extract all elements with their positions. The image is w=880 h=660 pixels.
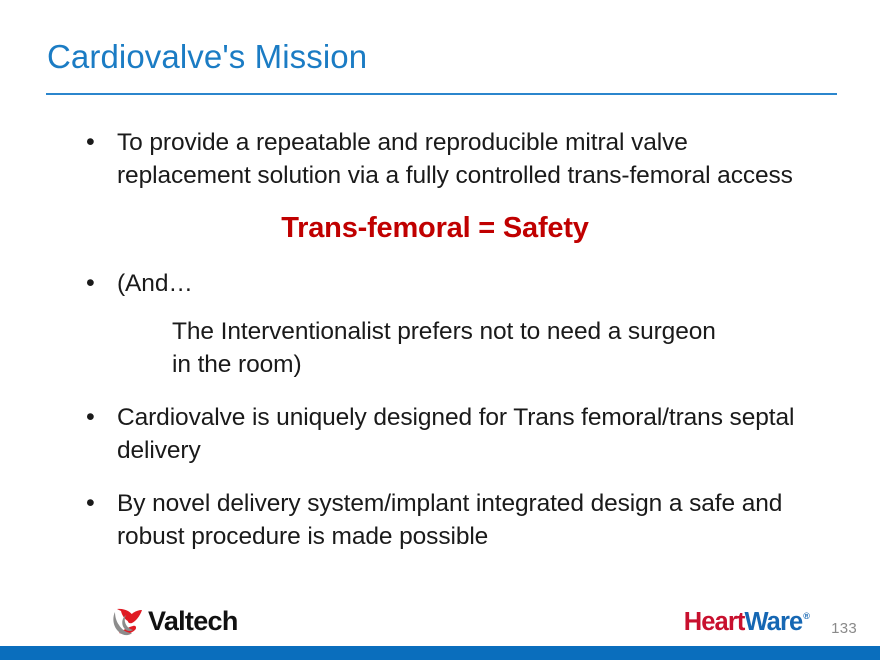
title-underline-rule: [46, 93, 837, 95]
footer-accent-bar: [0, 646, 880, 660]
list-item: • By novel delivery system/implant integ…: [0, 487, 880, 553]
list-item-text: To provide a repeatable and reproducible…: [117, 129, 793, 189]
registered-trademark-icon: ®: [803, 611, 809, 621]
heartware-wordmark-heart: Heart: [684, 608, 745, 637]
bullet-marker-icon: •: [86, 487, 95, 520]
list-item-text: Cardiovalve is uniquely designed for Tra…: [117, 404, 794, 464]
bullet-marker-icon: •: [86, 126, 95, 159]
bullet-marker-icon: •: [86, 267, 95, 300]
bullet-marker-icon: •: [86, 401, 95, 434]
list-item: • Cardiovalve is uniquely designed for T…: [0, 401, 880, 467]
valtech-wordmark: Valtech: [148, 608, 238, 635]
valtech-swirl-icon: [112, 606, 146, 637]
list-item-text: (And…: [117, 270, 193, 297]
slide-body: • To provide a repeatable and reproducib…: [0, 126, 880, 567]
heartware-logo: HeartWare®: [684, 608, 808, 638]
list-item-text: By novel delivery system/implant integra…: [117, 490, 782, 550]
list-item: • (And…: [0, 267, 880, 300]
list-item: • To provide a repeatable and reproducib…: [0, 126, 880, 192]
heartware-wordmark-ware: Ware: [744, 608, 802, 637]
slide-canvas: Cardiovalve's Mission • To provide a rep…: [0, 0, 880, 660]
sub-paragraph-text: The Interventionalist prefers not to nee…: [0, 315, 880, 381]
valtech-logo: Valtech: [112, 604, 238, 638]
highlight-heading: Trans-femoral = Safety: [0, 212, 880, 245]
page-title: Cardiovalve's Mission: [47, 38, 367, 76]
page-number: 133: [831, 620, 857, 637]
